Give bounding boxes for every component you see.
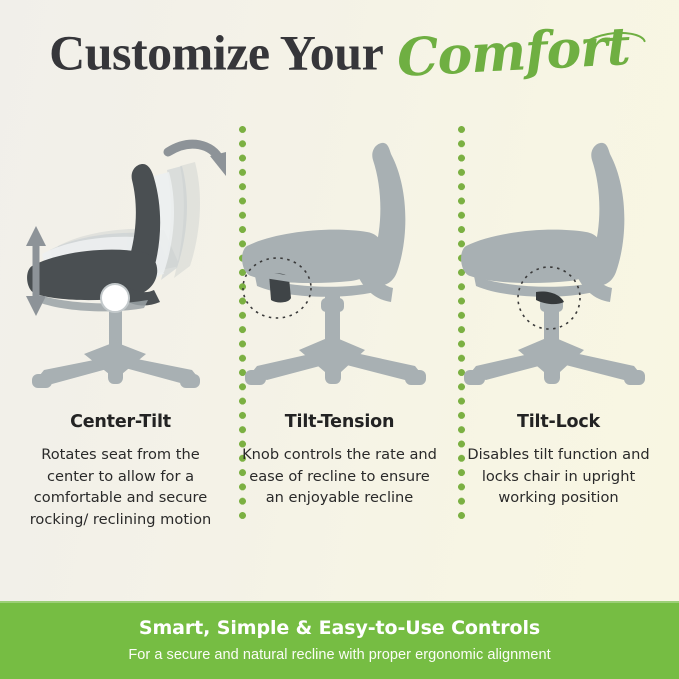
page-title: Customize YourComfort xyxy=(0,22,679,83)
feature-body-tilt-lock: Disables tilt function and locks chair i… xyxy=(452,444,665,509)
page-title-script-text: Comfort xyxy=(396,16,631,89)
caption-tilt-lock: Tilt-Lock Disables tilt function and loc… xyxy=(452,412,665,509)
feature-title-center-tilt: Center-Tilt xyxy=(14,412,227,432)
caption-tilt-tension: Tilt-Tension Knob controls the rate and … xyxy=(233,412,446,509)
infographic-poster: Customize YourComfort xyxy=(0,0,679,679)
feature-title-tilt-tension: Tilt-Tension xyxy=(233,412,446,432)
header: Customize YourComfort xyxy=(0,0,679,110)
feature-title-tilt-lock: Tilt-Lock xyxy=(452,412,665,432)
feature-column-tilt-tension: Tilt-Tension Knob controls the rate and … xyxy=(233,126,446,546)
footer-subtitle: For a secure and natural recline with pr… xyxy=(128,647,550,663)
footer-title: Smart, Simple & Easy-to-Use Controls xyxy=(139,617,540,639)
feature-body-tilt-tension: Knob controls the rate and ease of recli… xyxy=(233,444,446,509)
office-chair-tilt-tension-illustration xyxy=(233,126,446,398)
office-chair-tilt-lock-illustration xyxy=(452,126,665,398)
office-chair-center-tilt-illustration xyxy=(14,126,227,398)
footer-banner: Smart, Simple & Easy-to-Use Controls For… xyxy=(0,601,679,679)
page-title-script: Comfort xyxy=(396,16,631,89)
pivot-point-circle xyxy=(101,284,129,312)
feature-body-center-tilt: Rotates seat from the center to allow fo… xyxy=(14,444,227,530)
page-title-main: Customize Your xyxy=(49,25,383,81)
feature-column-center-tilt: Center-Tilt Rotates seat from the center… xyxy=(14,126,227,546)
curved-arrow-head xyxy=(210,152,226,176)
caption-center-tilt: Center-Tilt Rotates seat from the center… xyxy=(14,412,227,530)
feature-column-tilt-lock: Tilt-Lock Disables tilt function and loc… xyxy=(452,126,665,546)
